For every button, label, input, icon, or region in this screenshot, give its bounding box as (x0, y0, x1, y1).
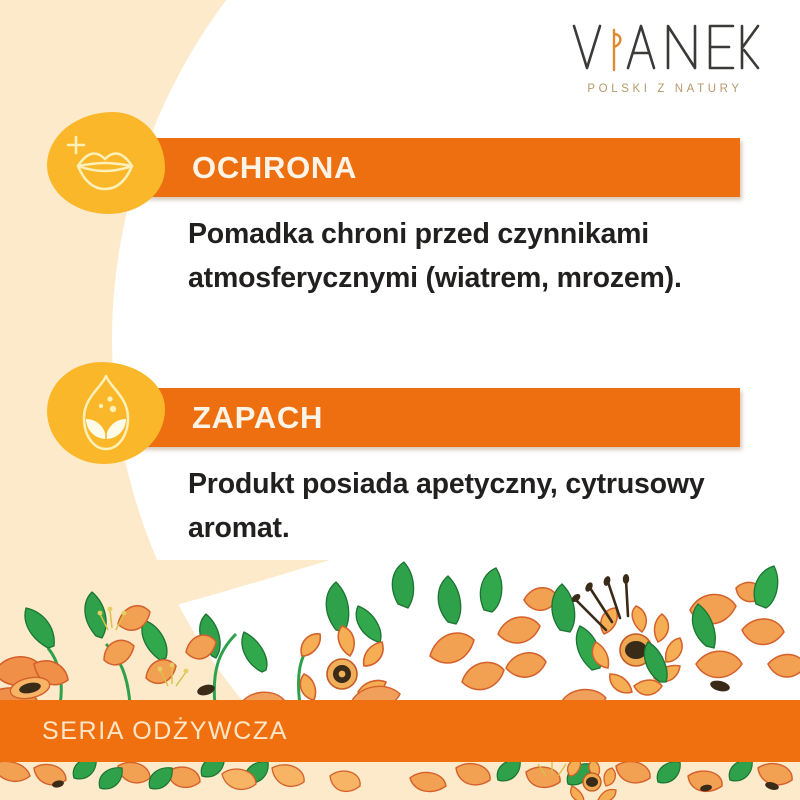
feature-heading-bar-zapach: ZAPACH (140, 388, 740, 447)
series-banner-label: SERIA ODŻYWCZA (42, 717, 288, 746)
feature-heading-label: OCHRONA (192, 150, 357, 186)
series-banner: SERIA ODŻYWCZA (0, 700, 800, 762)
folk-floral-border-bottom (0, 762, 800, 800)
lips-plus-icon (47, 112, 165, 214)
brand-logo-wordmark (560, 22, 770, 74)
poster-canvas: POLSKI Z NATURY OCHRONA Pomadka chroni p… (0, 0, 800, 800)
feature-body-ochrona: Pomadka chroni przed czynnikami atmosfer… (188, 212, 748, 300)
vianek-letters-icon (570, 20, 760, 74)
feature-body-zapach: Produkt posiada apetyczny, cytrusowy aro… (188, 462, 748, 550)
folk-floral-border-top (0, 560, 800, 705)
brand-tagline: POLSKI Z NATURY (560, 83, 770, 95)
brand-logo: POLSKI Z NATURY (560, 22, 770, 95)
feature-heading-bar-ochrona: OCHRONA (140, 138, 740, 197)
feature-heading-label: ZAPACH (192, 400, 323, 436)
